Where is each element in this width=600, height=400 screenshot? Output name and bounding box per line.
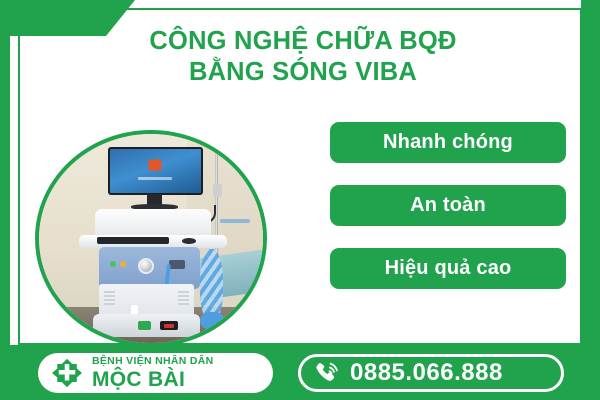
photo-vent-right xyxy=(178,291,189,306)
footer-bar: BỆNH VIỆN NHÂN DÂN MỘC BÀI 0885.066.888 xyxy=(0,345,600,400)
photo-keyboard xyxy=(97,237,169,244)
photo-machine-knob xyxy=(138,258,154,274)
photo-power-switch xyxy=(138,321,151,330)
photo-mouse xyxy=(182,238,195,244)
device-photo-circle xyxy=(35,130,267,347)
frame-hairline-left xyxy=(18,8,20,345)
frame-right-band xyxy=(581,0,600,352)
photo-monitor-caption xyxy=(138,177,172,180)
hospital-brand: BỆNH VIỆN NHÂN DÂN MỘC BÀI xyxy=(38,353,273,393)
photo-monitor-logo xyxy=(149,160,162,171)
frame-hairline-right xyxy=(580,8,582,345)
feature-button-safe[interactable]: An toàn xyxy=(330,185,566,226)
hospital-name-block: BỆNH VIỆN NHÂN DÂN MỘC BÀI xyxy=(92,356,214,390)
feature-button-fast[interactable]: Nhanh chóng xyxy=(330,122,566,163)
photo-machine-port xyxy=(169,260,185,268)
feature-button-list: Nhanh chóng An toàn Hiệu quả cao xyxy=(330,122,566,289)
phone-contact[interactable]: 0885.066.888 xyxy=(298,354,564,392)
promo-banner: CÔNG NGHỆ CHỮA BQĐ BẰNG SÓNG VIBA xyxy=(0,0,600,400)
photo-machine-strip xyxy=(220,219,249,224)
frame-corner-notch xyxy=(0,0,135,36)
photo-monitor-screen xyxy=(110,149,200,193)
headline-title: CÔNG NGHỆ CHỮA BQĐ BẰNG SÓNG VIBA xyxy=(120,26,486,88)
photo-fluid-bag xyxy=(200,312,225,331)
hospital-name-line1: BỆNH VIỆN NHÂN DÂN xyxy=(92,356,214,367)
frame-hairline-top xyxy=(18,8,582,10)
photo-hose-bundle xyxy=(200,249,222,320)
feature-button-effective[interactable]: Hiệu quả cao xyxy=(330,248,566,289)
medical-cross-icon xyxy=(52,358,82,388)
photo-machine-top xyxy=(95,209,211,236)
phone-number-text: 0885.066.888 xyxy=(350,359,503,387)
phone-ringing-icon xyxy=(313,360,340,387)
photo-vent-left xyxy=(104,291,115,306)
photo-digital-display xyxy=(160,321,178,330)
hospital-name-line2: MỘC BÀI xyxy=(92,369,214,390)
device-photo-image xyxy=(39,134,263,343)
photo-monitor xyxy=(108,147,202,195)
photo-iv-pole-head xyxy=(213,184,222,197)
frame-left-band xyxy=(0,0,10,352)
